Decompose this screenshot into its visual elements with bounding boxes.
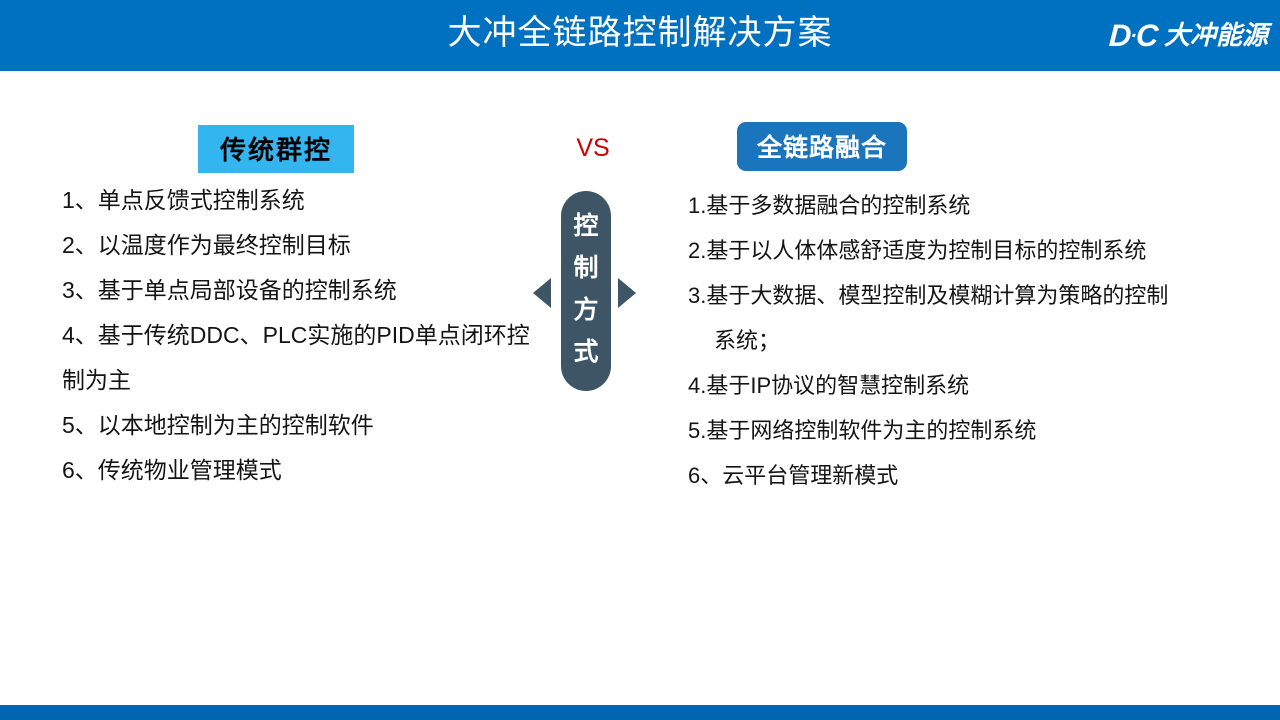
- list-item: 5.基于网络控制软件为主的控制系统: [688, 408, 1280, 453]
- list-item: 4、基于传统DDC、PLC实施的PID单点闭环控制为主: [62, 313, 538, 403]
- left-column-traditional: 传统群控 1、单点反馈式控制系统 2、以温度作为最终控制目标 3、基于单点局部设…: [0, 71, 540, 705]
- list-item: 5、以本地控制为主的控制软件: [62, 403, 538, 448]
- pill-char: 方: [561, 289, 611, 331]
- brand-logo: D·C 大冲能源: [1109, 13, 1268, 57]
- logo-dc-letters: D·C: [1108, 18, 1158, 53]
- right-column-integrated: 全链路融合 1.基于多数据融合的控制系统 2.基于以人体体感舒适度为控制目标的控…: [680, 71, 1280, 705]
- list-item: 6、传统物业管理模式: [62, 448, 538, 493]
- pill-char: 制: [561, 247, 611, 289]
- list-item: 3、基于单点局部设备的控制系统: [62, 268, 538, 313]
- list-item: 2、以温度作为最终控制目标: [62, 223, 538, 268]
- right-column-list: 1.基于多数据融合的控制系统 2.基于以人体体感舒适度为控制目标的控制系统 3.…: [688, 183, 1280, 498]
- list-item: 2.基于以人体体感舒适度为控制目标的控制系统: [688, 228, 1280, 273]
- logo-dc-mark: D·C: [1108, 20, 1158, 51]
- list-item: 1.基于多数据融合的控制系统: [688, 183, 1280, 228]
- footer-bar: [0, 705, 1280, 720]
- list-item: 3.基于大数据、模型控制及模糊计算为策略的控制: [688, 273, 1280, 318]
- list-item: 1、单点反馈式控制系统: [62, 178, 538, 223]
- header-bar: 大冲全链路控制解决方案 D·C 大冲能源: [0, 0, 1280, 71]
- comparison-section: 传统群控 1、单点反馈式控制系统 2、以温度作为最终控制目标 3、基于单点局部设…: [0, 71, 1280, 705]
- control-mode-pill: 控 制 方 式: [561, 191, 611, 391]
- list-item-continuation: 系统；: [688, 318, 1280, 363]
- logo-brand-name: 大冲能源: [1164, 22, 1268, 48]
- arrow-right-icon: [618, 278, 636, 308]
- list-item: 4.基于IP协议的智慧控制系统: [688, 363, 1280, 408]
- list-item: 6、云平台管理新模式: [688, 453, 1280, 498]
- pill-char: 式: [561, 331, 611, 373]
- arrow-left-icon: [533, 278, 551, 308]
- vs-label: VS: [523, 134, 663, 163]
- right-column-badge: 全链路融合: [737, 122, 907, 171]
- center-divider: VS 控 制 方 式: [523, 71, 663, 705]
- pill-char: 控: [561, 205, 611, 247]
- left-column-badge: 传统群控: [198, 125, 354, 173]
- page-title: 大冲全链路控制解决方案: [0, 0, 1280, 71]
- left-column-list: 1、单点反馈式控制系统 2、以温度作为最终控制目标 3、基于单点局部设备的控制系…: [62, 178, 538, 493]
